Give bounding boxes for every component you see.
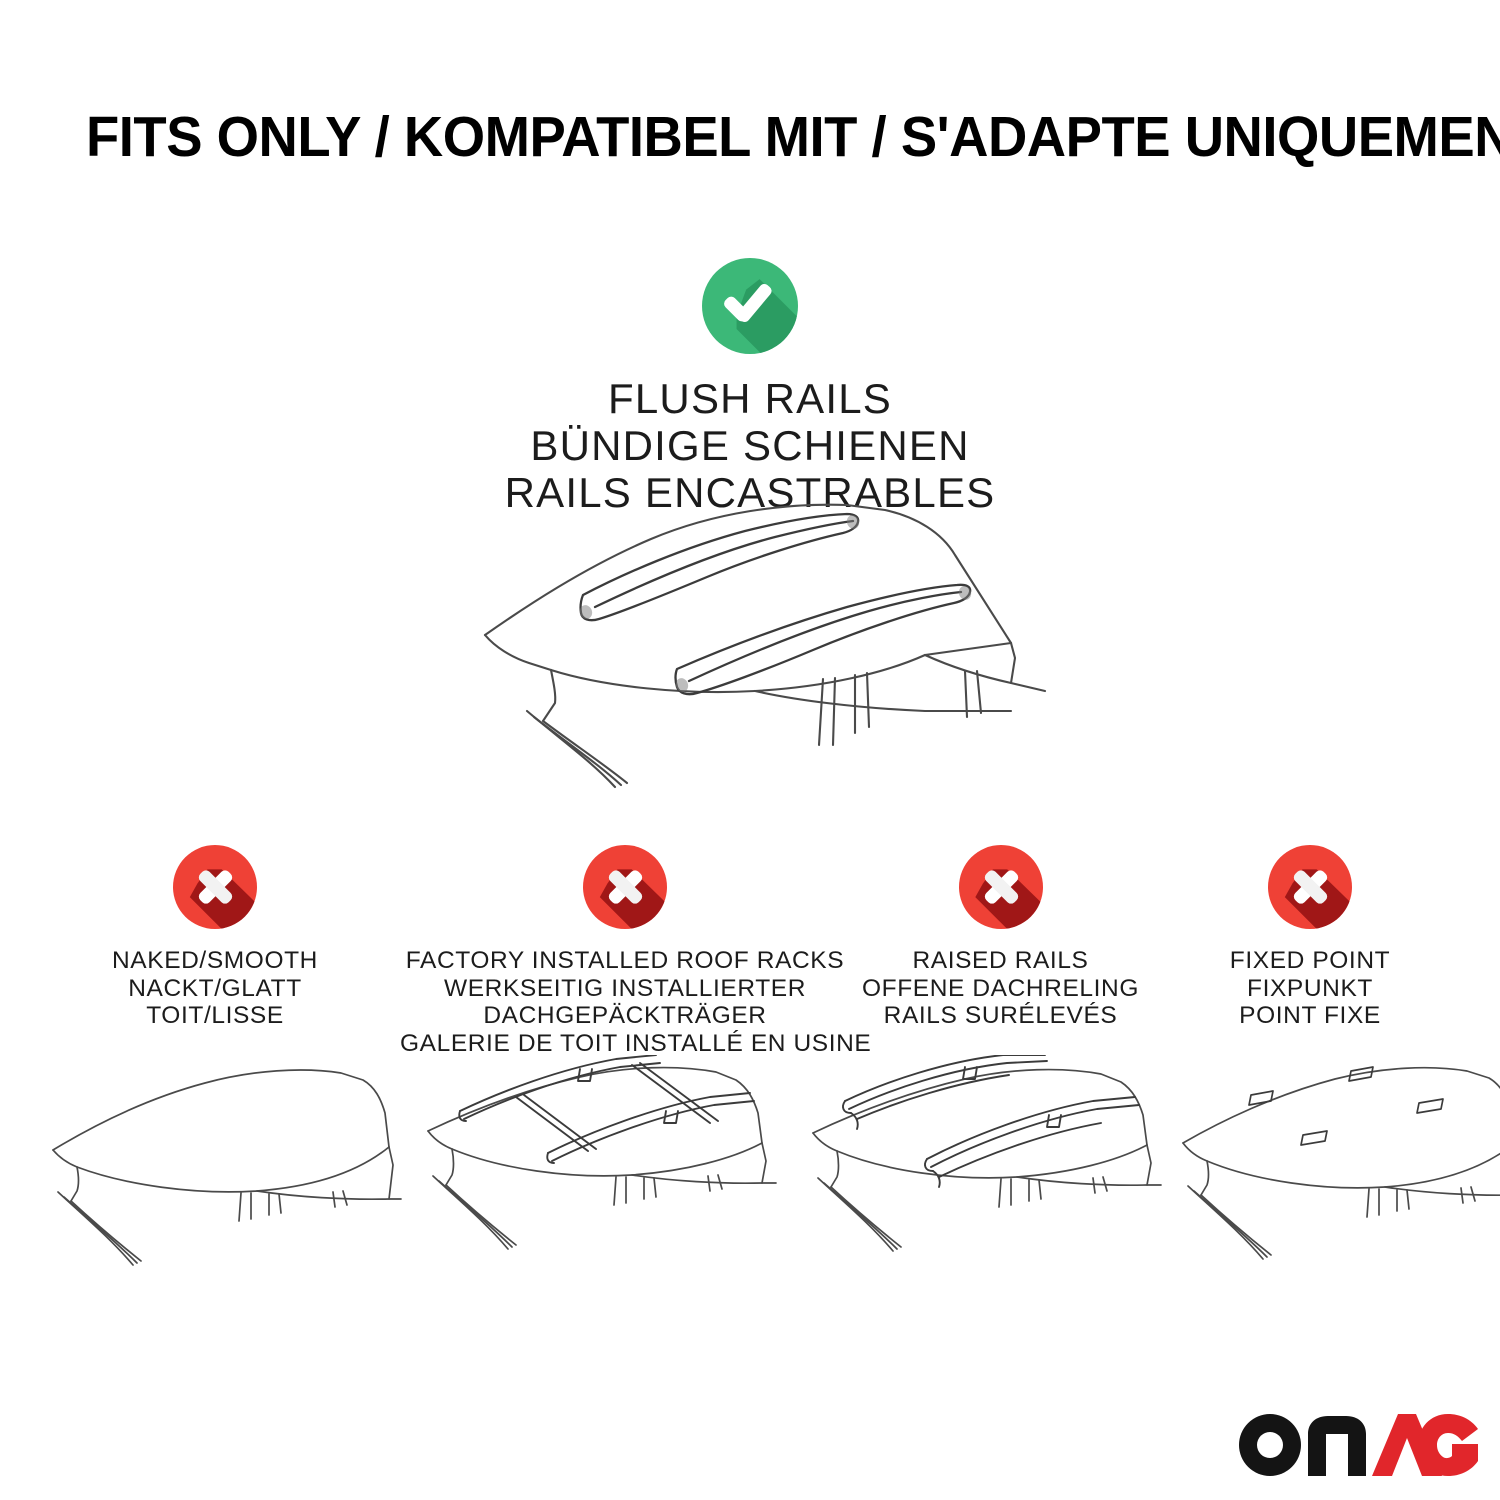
omac-logo-mark <box>1238 1412 1478 1478</box>
compatibility-infographic: FITS ONLY / KOMPATIBEL MIT / S'ADAPTE UN… <box>0 0 1500 1500</box>
label-de-2: DACHGEPÄCKTRÄGER <box>400 1002 850 1030</box>
car-roof-factory-roof-racks-illustration <box>420 1055 780 1295</box>
label-fr: TOIT/LISSE <box>55 1002 375 1030</box>
incompatible-labels: FIXED POINT FIXPUNKT POINT FIXE <box>1160 947 1460 1030</box>
label-en: FIXED POINT <box>1160 947 1460 975</box>
label-fr: POINT FIXE <box>1160 1002 1460 1030</box>
x-glyph <box>603 865 647 909</box>
incompatible-section: NAKED/SMOOTH NACKT/GLATT TOIT/LISSE FACT… <box>0 845 1500 1065</box>
logo-letter-m <box>1308 1416 1366 1476</box>
car-roof-raised-rails-illustration <box>805 1055 1165 1295</box>
incompatible-item-factory-roof-racks: FACTORY INSTALLED ROOF RACKS WERKSEITIG … <box>400 845 850 1057</box>
x-glyph <box>1288 865 1332 909</box>
logo-letter-o-counter <box>1257 1432 1283 1458</box>
incompatible-item-fixed-point: FIXED POINT FIXPUNKT POINT FIXE <box>1160 845 1460 1030</box>
label-de: FIXPUNKT <box>1160 975 1460 1003</box>
car-roof-fixed-point-illustration <box>1165 1055 1500 1295</box>
car-roof-with-flush-rails-illustration <box>455 495 1055 795</box>
compatible-label-en: FLUSH RAILS <box>380 375 1120 422</box>
logo-letter-c <box>1418 1414 1478 1476</box>
x-glyph <box>193 865 237 909</box>
incompatible-labels: RAISED RAILS OFFENE DACHRELING RAILS SUR… <box>838 947 1163 1030</box>
car-roof-naked-smooth-illustration <box>45 1055 405 1295</box>
label-de-1: WERKSEITIG INSTALLIERTER <box>400 975 850 1003</box>
label-fr: RAILS SURÉLEVÉS <box>838 1002 1163 1030</box>
green-check-icon <box>702 258 798 354</box>
compatible-label-de: BÜNDIGE SCHIENEN <box>380 422 1120 469</box>
label-de: OFFENE DACHRELING <box>838 975 1163 1003</box>
label-en: FACTORY INSTALLED ROOF RACKS <box>400 947 850 975</box>
x-glyph <box>979 865 1023 909</box>
omac-logo <box>1238 1412 1478 1478</box>
label-de: NACKT/GLATT <box>55 975 375 1003</box>
check-glyph <box>728 282 772 326</box>
red-x-icon <box>1268 845 1352 929</box>
incompatible-labels: FACTORY INSTALLED ROOF RACKS WERKSEITIG … <box>400 947 850 1057</box>
red-x-icon <box>173 845 257 929</box>
incompatible-item-raised-rails: RAISED RAILS OFFENE DACHRELING RAILS SUR… <box>838 845 1163 1030</box>
red-x-icon <box>959 845 1043 929</box>
red-x-icon <box>583 845 667 929</box>
compatible-section: FLUSH RAILS BÜNDIGE SCHIENEN RAILS ENCAS… <box>380 258 1120 516</box>
incompatible-labels: NAKED/SMOOTH NACKT/GLATT TOIT/LISSE <box>55 947 375 1030</box>
page-title: FITS ONLY / KOMPATIBEL MIT / S'ADAPTE UN… <box>86 106 1366 168</box>
label-fr: GALERIE DE TOIT INSTALLÉ EN USINE <box>400 1030 850 1058</box>
incompatible-item-naked-smooth: NAKED/SMOOTH NACKT/GLATT TOIT/LISSE <box>55 845 375 1030</box>
label-en: RAISED RAILS <box>838 947 1163 975</box>
check-arm-right <box>735 282 773 324</box>
label-en: NAKED/SMOOTH <box>55 947 375 975</box>
